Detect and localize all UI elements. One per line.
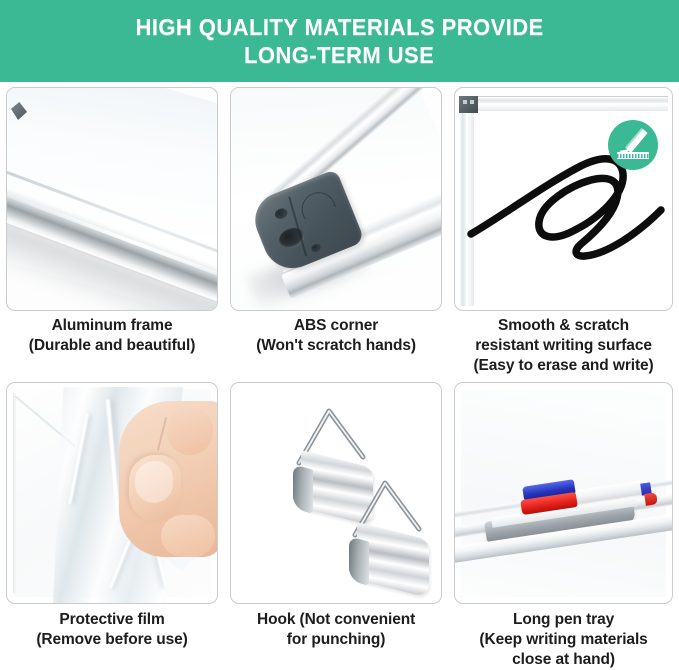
caption-line-2: resistant writing surface [473, 336, 653, 356]
feature-grid: Aluminum frame (Durable and beautiful) [0, 82, 679, 670]
whiteboard-corner-bracket-icon [459, 96, 478, 113]
feature-caption-hook: Hook (Not convenient for punching) [257, 610, 415, 650]
whiteboard-frame-top-inner [459, 105, 668, 111]
feature-cell-aluminum-frame: Aluminum frame (Durable and beautiful) [6, 87, 218, 376]
feature-image-abs-corner [230, 87, 442, 311]
feature-caption-abs-corner: ABS corner (Won't scratch hands) [256, 316, 416, 356]
hook-clip-lip-lower [349, 536, 369, 586]
hand-knuckle-lower [161, 515, 215, 557]
caption-line-2: for punching) [257, 630, 415, 650]
feature-cell-abs-corner: ABS corner (Won't scratch hands) [230, 87, 442, 376]
caption-line-2: (Remove before use) [36, 630, 187, 650]
caption-line-2: (Durable and beautiful) [29, 336, 195, 356]
feature-row-top: Aluminum frame (Durable and beautiful) [6, 87, 673, 376]
hand-knuckle-upper [167, 407, 213, 455]
feature-cell-writing-surface: Smooth & scratch resistant writing surfa… [454, 87, 673, 376]
header-title-line-1: HIGH QUALITY MATERIALS PROVIDE [135, 14, 543, 41]
feature-image-writing-surface [454, 87, 673, 311]
caption-line-1: Protective film [36, 610, 187, 630]
feature-image-hook [230, 382, 442, 604]
feature-cell-pen-tray: Long pen tray (Keep writing materials cl… [454, 382, 673, 670]
feature-caption-protective-film: Protective film (Remove before use) [36, 610, 187, 650]
whiteboard-left-edge [13, 393, 16, 593]
corner-mounting-hole-small-upper [273, 207, 289, 221]
infographic-header-banner: HIGH QUALITY MATERIALS PROVIDE LONG-TERM… [0, 0, 679, 82]
feature-cell-hook: Hook (Not convenient for punching) [230, 382, 442, 670]
caption-line-2: (Keep writing materials [479, 630, 647, 650]
corner-molding-arc-detail [297, 187, 341, 231]
feature-row-bottom: Protective film (Remove before use) [6, 382, 673, 670]
corner-bracket-screw-right [470, 100, 474, 104]
feature-image-protective-film [6, 382, 218, 604]
feature-caption-pen-tray: Long pen tray (Keep writing materials cl… [479, 610, 647, 670]
caption-line-1: Aluminum frame [29, 316, 195, 336]
feature-image-aluminum-frame [6, 87, 218, 311]
caption-line-1: Hook (Not convenient [257, 610, 415, 630]
hook-clip-lip-upper [293, 464, 313, 514]
caption-line-2: (Won't scratch hands) [256, 336, 416, 356]
corner-bracket-screw-left [463, 100, 467, 104]
caption-line-1: ABS corner [256, 316, 416, 336]
easy-to-erase-badge [608, 120, 658, 170]
whiteboard-frame-top-outer [459, 96, 668, 103]
corner-mounting-hole-small-lower [310, 242, 322, 253]
eraser-icon-texture [617, 154, 649, 158]
feature-cell-protective-film: Protective film (Remove before use) [6, 382, 218, 670]
feature-caption-aluminum-frame: Aluminum frame (Durable and beautiful) [29, 316, 195, 356]
caption-line-3: (Easy to erase and write) [473, 356, 653, 376]
feature-caption-writing-surface: Smooth & scratch resistant writing surfa… [473, 316, 653, 376]
thumb-nail [135, 461, 173, 503]
caption-line-3: close at hand) [479, 650, 647, 670]
caption-line-1: Long pen tray [479, 610, 647, 630]
header-title-line-2: LONG-TERM USE [244, 42, 434, 69]
feature-image-pen-tray [454, 382, 673, 604]
caption-line-1: Smooth & scratch [473, 316, 653, 336]
